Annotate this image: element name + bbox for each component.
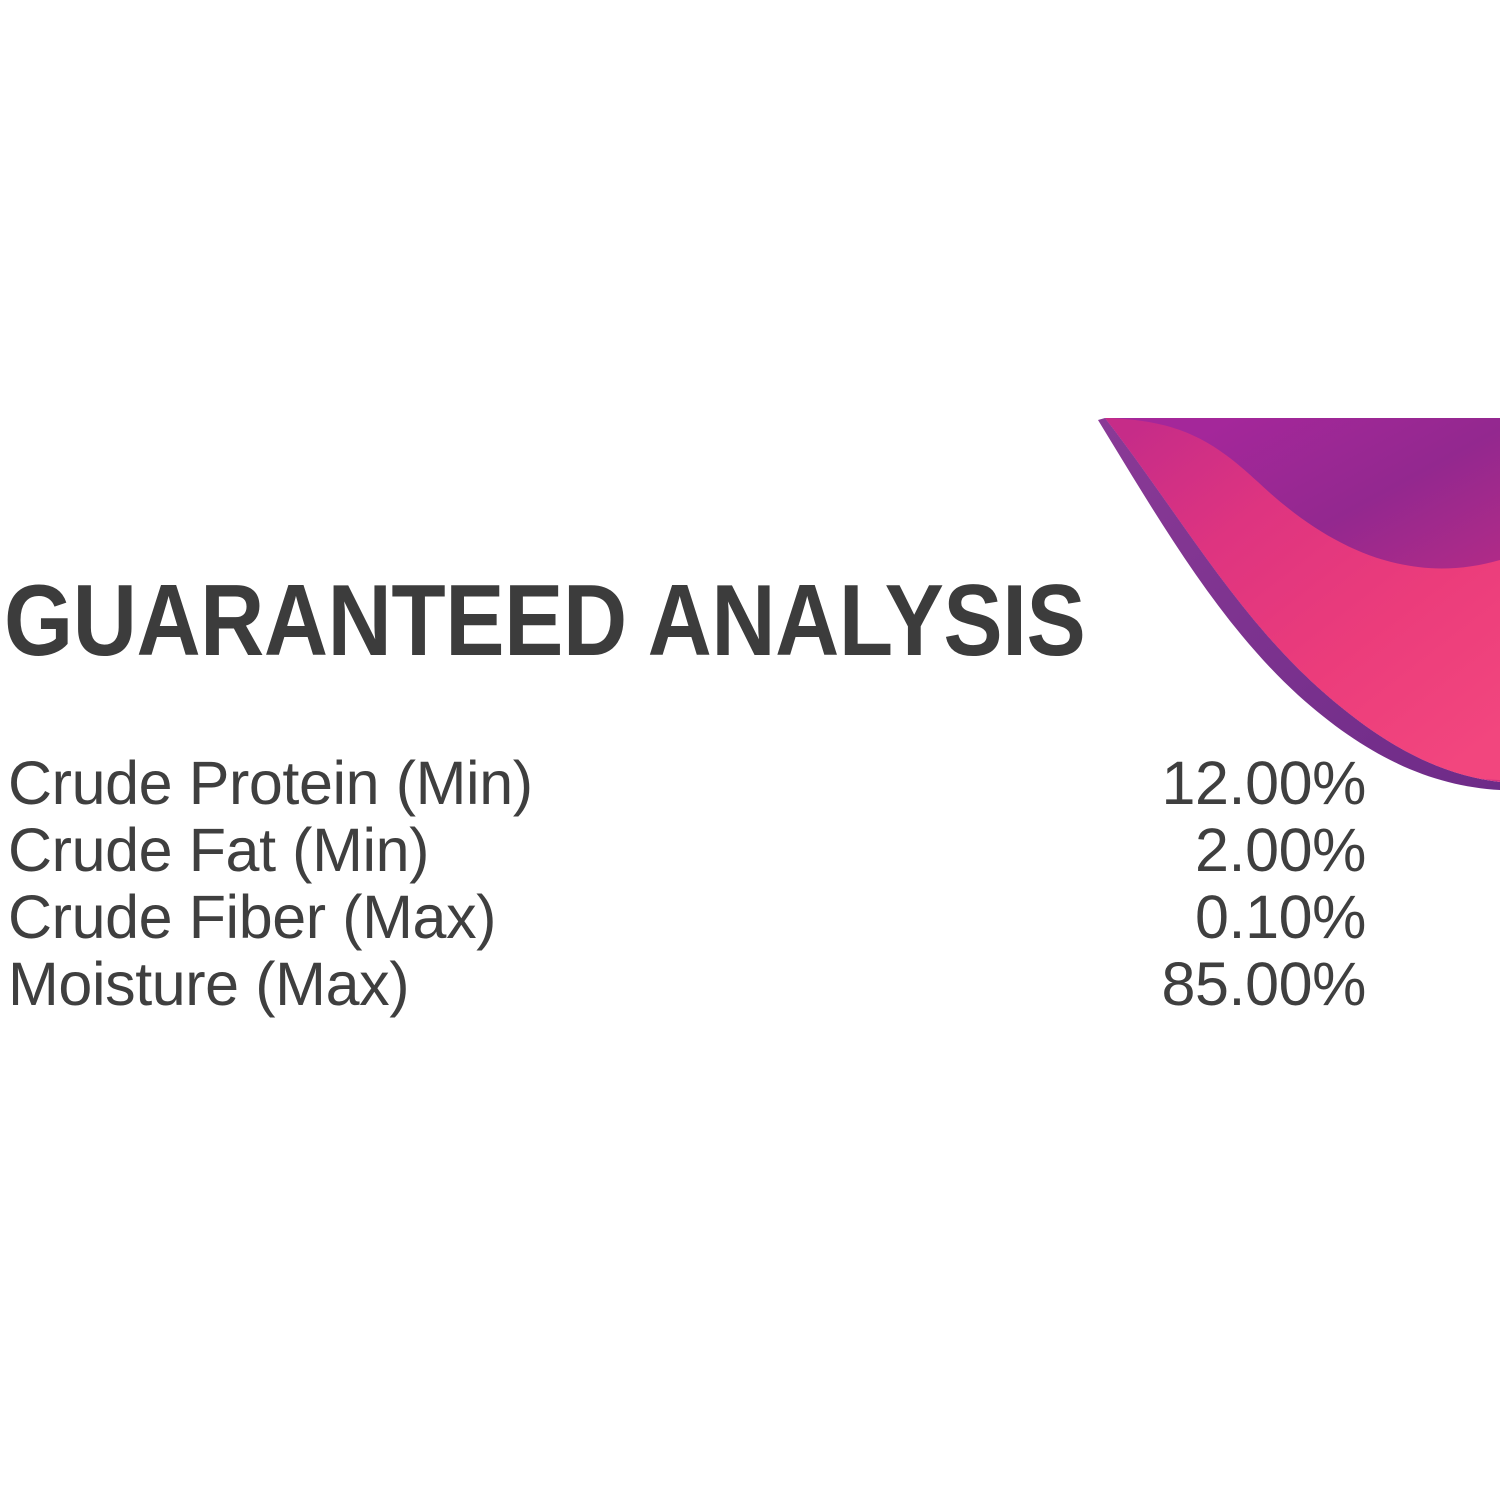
table-row: Crude Fiber (Max) 0.10% [8,884,1366,951]
table-row: Crude Fat (Min) 2.00% [8,817,1366,884]
page-title: GUARANTEED ANALYSIS [4,571,1085,672]
guaranteed-analysis-table: Crude Protein (Min) 12.00% Crude Fat (Mi… [8,750,1366,1018]
row-label-crude-protein: Crude Protein (Min) [8,750,533,817]
swoosh-pink-shape [1105,418,1500,782]
row-label-crude-fat: Crude Fat (Min) [8,817,429,884]
row-value-crude-protein: 12.00% [1162,750,1367,817]
row-label-crude-fiber: Crude Fiber (Max) [8,884,496,951]
table-row: Moisture (Max) 85.00% [8,951,1366,1018]
gradient-swoosh-decoration [1080,390,1500,790]
row-value-crude-fiber: 0.10% [1195,884,1366,951]
swoosh-rim-shape [1098,418,1500,790]
row-value-moisture: 85.00% [1162,951,1367,1018]
table-row: Crude Protein (Min) 12.00% [8,750,1366,817]
row-label-moisture: Moisture (Max) [8,951,409,1018]
swoosh-purple-shape [1105,418,1500,782]
row-value-crude-fat: 2.00% [1195,817,1366,884]
guaranteed-analysis-panel: GUARANTEED ANALYSIS Crude Protein (Min) … [0,0,1500,1500]
